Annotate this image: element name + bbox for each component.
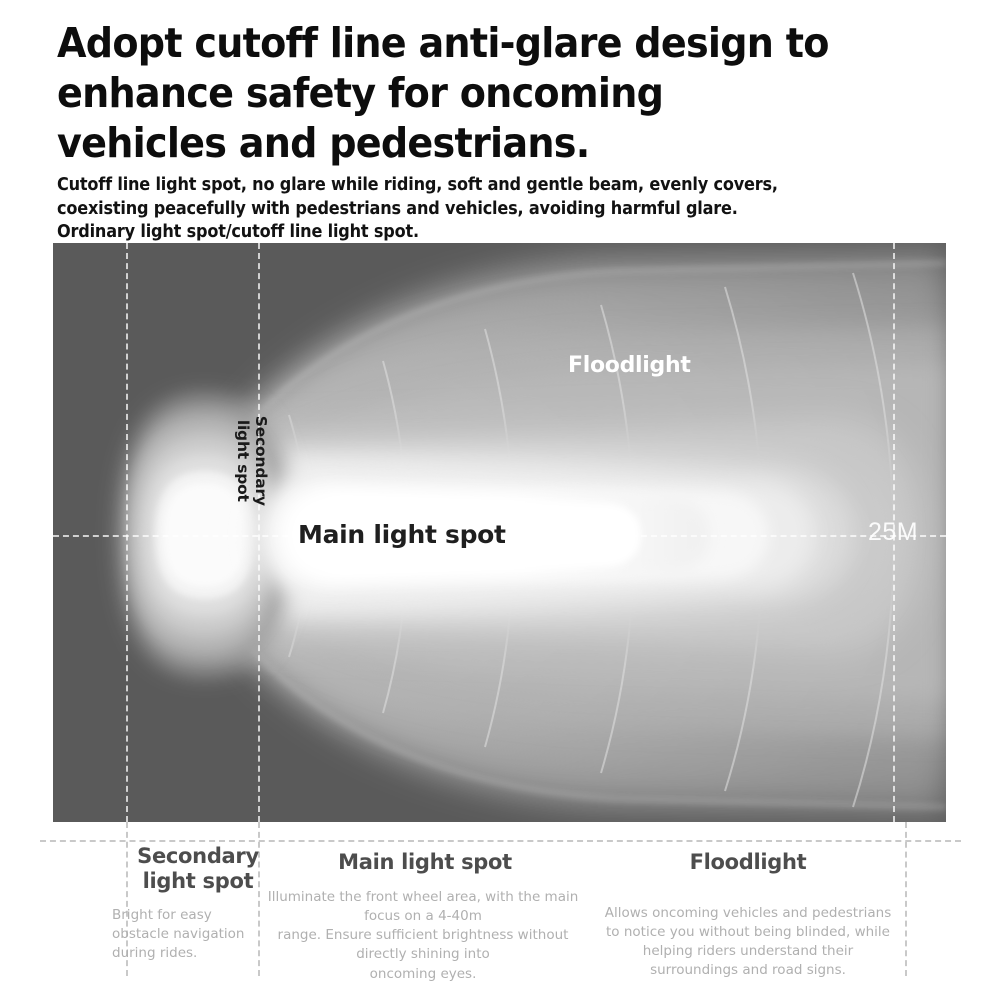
page-title: Adopt cutoff line anti-glare design to e… [57,18,894,168]
caption-guide-vertical-3 [905,822,907,976]
guide-line-vertical-near [126,243,128,822]
caption-title-secondary: Secondary light spot [118,844,278,894]
caption-body-floodlight: Allows oncoming vehicles and pedestrians… [598,904,898,981]
beam-diagram-canvas: Secondary light spot Main light spot Flo… [53,243,946,822]
label-secondary-light-spot: Secondary light spot [233,406,269,516]
caption-guide-horizontal [40,840,961,842]
header-block: Adopt cutoff line anti-glare design to e… [57,18,957,245]
caption-body-main: Illuminate the front wheel area, with th… [258,888,588,984]
guide-line-vertical-mid [258,243,260,822]
caption-title-main: Main light spot [300,850,550,875]
beam-pattern-diagram: Secondary light spot Main light spot Flo… [53,243,946,822]
caption-body-secondary: Bright for easy obstacle navigation duri… [112,906,262,963]
page-subtitle: Cutoff line light spot, no glare while r… [57,174,885,245]
caption-title-floodlight: Floodlight [648,850,848,875]
caption-row: Secondary light spot Bright for easy obs… [0,822,1001,1001]
label-floodlight: Floodlight [568,353,691,378]
label-distance-25m: 25M [868,518,918,547]
label-main-light-spot: Main light spot [298,520,506,549]
